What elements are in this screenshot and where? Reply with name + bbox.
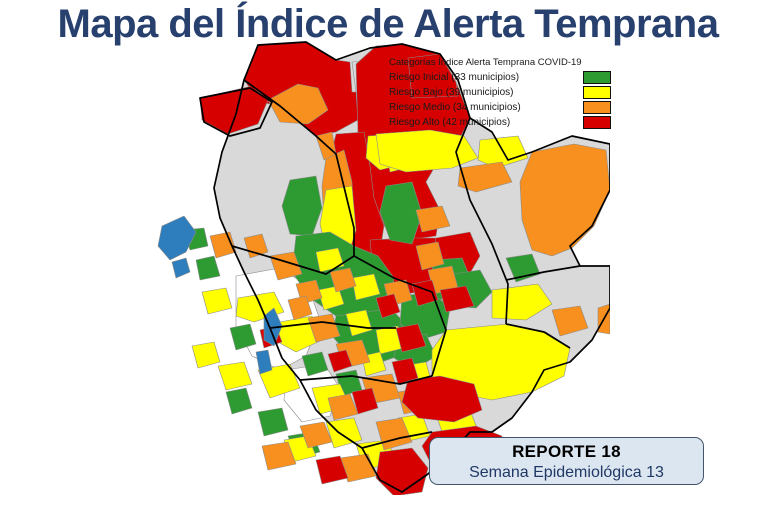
report-epidemiological-week: Semana Epidemiológica 13 (430, 462, 703, 483)
legend-item-riesgo-inicial: Riesgo Inicial (33 municipios) (389, 70, 611, 85)
legend-item-riesgo-bajo: Riesgo Bajo (39 municipios) (389, 85, 611, 100)
legend-item-label: Riesgo Bajo (39 municipios) (389, 86, 514, 100)
legend-swatch-riesgo-bajo (583, 86, 611, 99)
legend-swatch-riesgo-inicial (583, 71, 611, 84)
legend-swatch-riesgo-alto (583, 116, 611, 129)
legend-swatch-riesgo-medio (583, 101, 611, 114)
report-callout-box: REPORTE 18 Semana Epidemiológica 13 (429, 437, 704, 485)
legend-item-riesgo-alto: Riesgo Alto (42 municipios) (389, 115, 611, 130)
map-legend: Categorías Índice Alerta Temprana COVID-… (389, 56, 611, 130)
legend-item-label: Riesgo Inicial (33 municipios) (389, 71, 519, 85)
report-number: REPORTE 18 (430, 441, 703, 462)
legend-item-riesgo-medio: Riesgo Medio (34 municipios) (389, 100, 611, 115)
legend-item-label: Riesgo Medio (34 municipios) (389, 101, 521, 115)
legend-item-label: Riesgo Alto (42 municipios) (389, 116, 510, 130)
legend-title: Categorías Índice Alerta Temprana COVID-… (389, 56, 611, 69)
